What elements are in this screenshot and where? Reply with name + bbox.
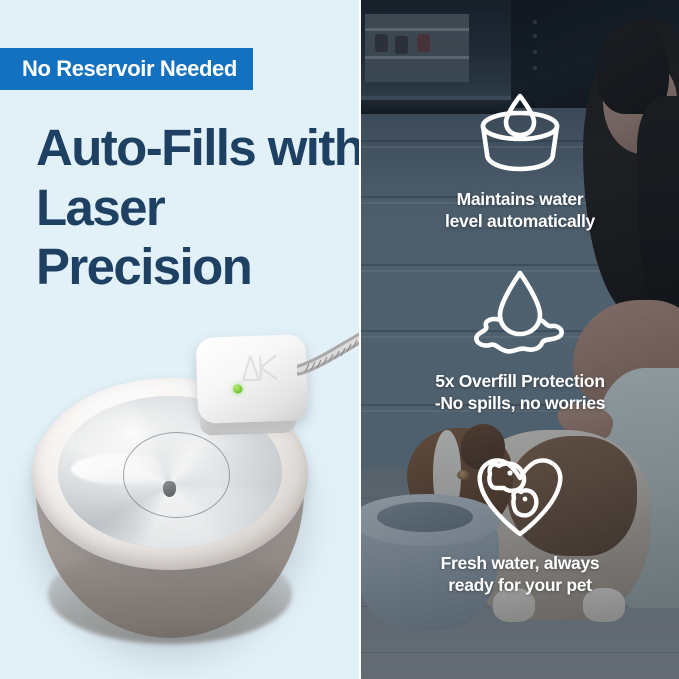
feature-caption: 5x Overfill Protection -No spills, no wo…	[361, 370, 679, 415]
feature-maintains-water-level: Maintains water level automatically	[361, 92, 679, 233]
status-badge: No Reservoir Needed	[0, 48, 253, 90]
brand-logo-icon	[236, 349, 285, 393]
feature-overfill-protection: 5x Overfill Protection -No spills, no wo…	[361, 268, 679, 415]
page-title: Auto-Fills with Laser Precision	[36, 118, 359, 297]
product-photo	[0, 330, 359, 679]
water-swirl-ring	[123, 432, 231, 517]
feature-caption: Maintains water level automatically	[361, 188, 679, 233]
braided-hose	[297, 330, 359, 376]
badge-label: No Reservoir Needed	[22, 56, 237, 82]
bowl-with-water-drop-icon	[361, 92, 679, 176]
water-drop-splash-icon	[361, 268, 679, 358]
feature-caption: Fresh water, always ready for your pet	[361, 552, 679, 597]
dog-cat-heart-icon	[361, 452, 679, 540]
right-panel: Maintains water level automatically 5x O…	[361, 0, 679, 679]
product-feature-image: No Reservoir Needed Auto-Fills with Lase…	[0, 0, 679, 679]
laser-sensor-module	[196, 334, 309, 424]
left-panel: No Reservoir Needed Auto-Fills with Lase…	[0, 0, 359, 679]
feature-fresh-water: Fresh water, always ready for your pet	[361, 452, 679, 597]
